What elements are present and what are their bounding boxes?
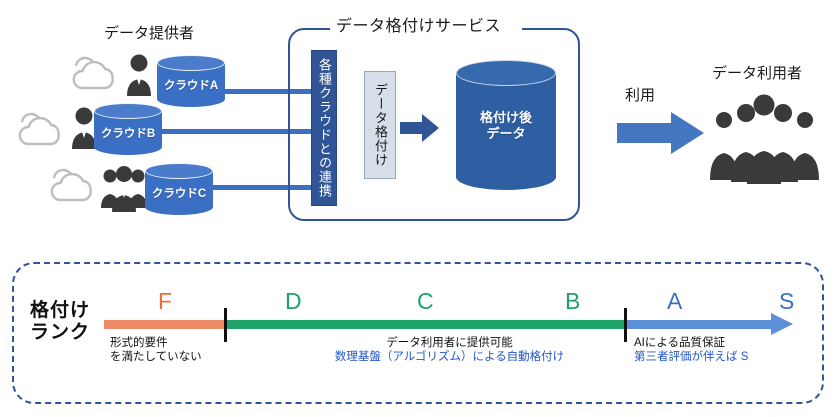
rated-data-line1: 格付け後	[480, 110, 532, 125]
note-fail: 形式的要件 を満たしていない	[110, 336, 202, 364]
cloud-integration-box: 各種クラウドとの連携	[311, 50, 337, 206]
rank-panel-title: 格付け ランク	[30, 300, 90, 344]
data-rating-label: データ格付け	[364, 83, 396, 167]
data-consumer-caption: データ利用者	[712, 62, 802, 83]
use-label: 利用	[625, 84, 655, 105]
cloud-a-cylinder: クラウドA	[157, 55, 225, 107]
person-icon	[125, 52, 153, 96]
note-auto-line2: 数理基盤（アルゴリズム）による自動格付け	[277, 350, 622, 364]
rank-arrow-head-icon	[771, 313, 793, 335]
rank-divider-tick	[224, 308, 227, 342]
rank-letter-b: B	[565, 288, 580, 315]
crowd-icon	[706, 88, 824, 184]
service-title: データ格付けサービス	[336, 12, 501, 36]
cloud-b-cylinder: クラウドB	[94, 103, 162, 155]
rank-title-line1: 格付け	[30, 300, 90, 322]
rank-title-line2: ランク	[30, 322, 90, 344]
right-arrow-icon	[617, 110, 705, 156]
data-rating-box: データ格付け	[364, 71, 396, 179]
cloud-c-label: クラウドC	[145, 185, 213, 201]
rated-data-cylinder: 格付け後 データ	[456, 60, 556, 190]
rank-divider-tick	[624, 308, 627, 342]
rank-segment-auto-rated	[225, 320, 625, 329]
rank-segment-fail	[104, 320, 225, 329]
cloud-icon	[62, 52, 128, 94]
diagram-canvas: データ提供者 クラウドA クラウドB	[0, 0, 840, 417]
rank-letter-f: F	[158, 288, 172, 315]
data-provider-caption: データ提供者	[104, 22, 194, 43]
note-ai-assured: AIによる品質保証 第三者評価が伴えば S	[634, 336, 748, 364]
note-fail-line1: 形式的要件	[110, 336, 202, 350]
rank-letter-s: S	[779, 288, 794, 315]
rank-letter-d: D	[285, 288, 302, 315]
note-auto-line1: データ利用者に提供可能	[277, 336, 622, 350]
people-group-icon	[100, 162, 148, 212]
note-ai-line1: AIによる品質保証	[634, 336, 748, 350]
rated-data-line2: データ	[486, 126, 525, 141]
note-ai-line2: 第三者評価が伴えば S	[634, 350, 748, 364]
cloud-icon	[8, 108, 74, 150]
cloud-b-label: クラウドB	[94, 125, 162, 141]
cloud-icon	[40, 164, 106, 206]
cloud-integration-label: 各種クラウドとの連携	[311, 58, 337, 198]
rank-segment-ai-assured	[625, 320, 775, 329]
rank-letter-c: C	[417, 288, 434, 315]
note-auto-rated: データ利用者に提供可能 数理基盤（アルゴリズム）による自動格付け	[277, 336, 622, 364]
note-fail-line2: を満たしていない	[110, 350, 202, 364]
rank-letter-a: A	[667, 288, 682, 315]
rank-panel-boundary	[12, 262, 824, 404]
cloud-c-cylinder: クラウドC	[145, 163, 213, 215]
cloud-a-label: クラウドA	[157, 77, 225, 93]
right-arrow-icon	[400, 113, 440, 143]
